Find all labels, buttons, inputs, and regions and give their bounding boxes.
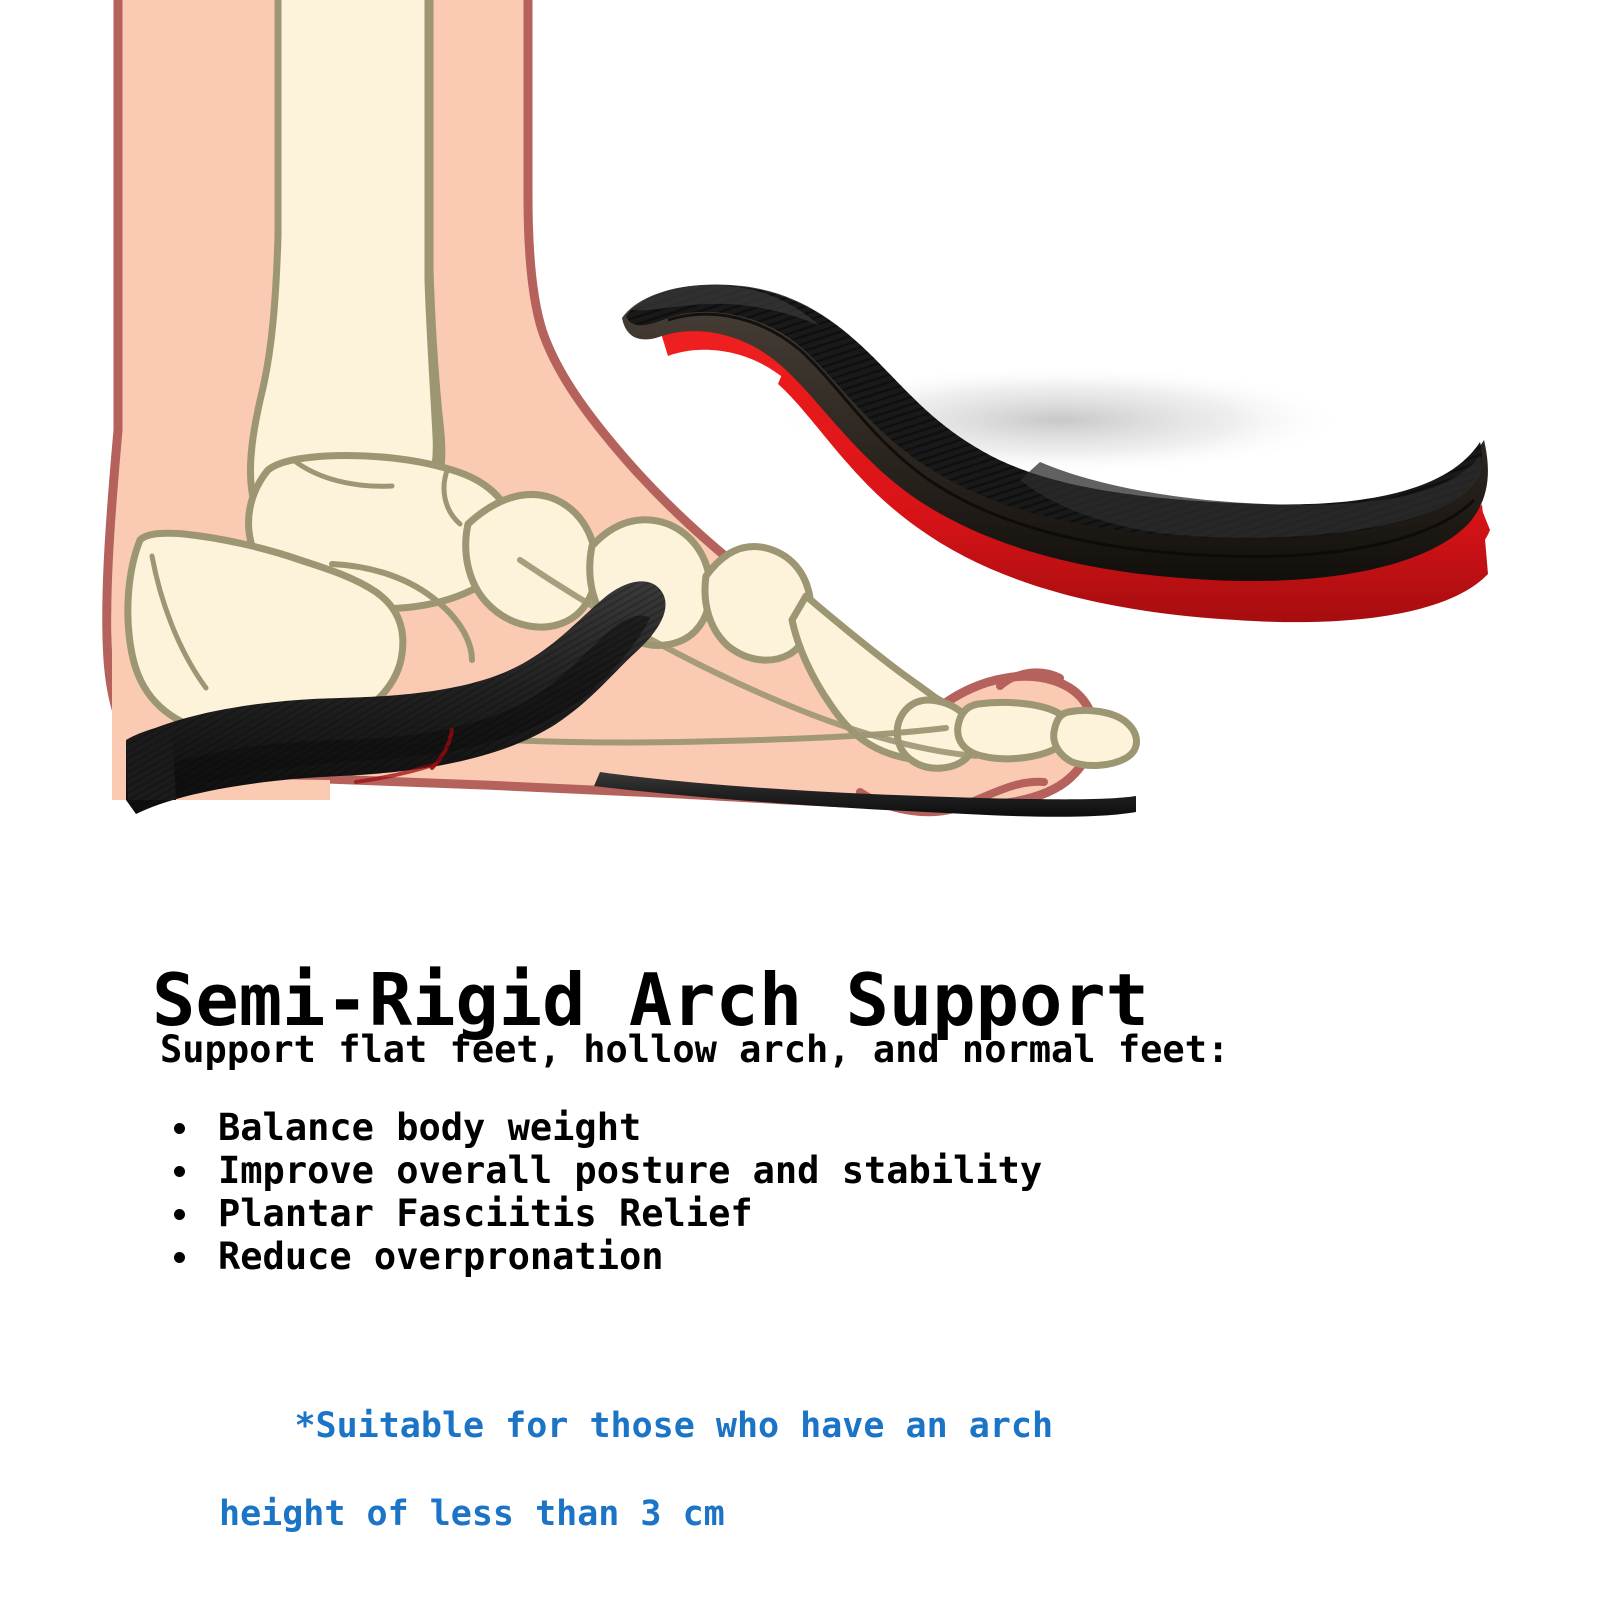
foot-anatomy-illustration xyxy=(0,0,1600,870)
distal-phalanx-bone xyxy=(1054,710,1137,765)
footnote-line-1: *Suitable for those who have an arch xyxy=(294,1406,1053,1446)
subtitle: Support flat feet, hollow arch, and norm… xyxy=(160,1028,1229,1072)
benefits-list: Balance body weight Improve overall post… xyxy=(168,1106,1042,1278)
list-item: Plantar Fasciitis Relief xyxy=(168,1192,1042,1235)
bullet-icon xyxy=(174,1252,185,1263)
list-item-label: Plantar Fasciitis Relief xyxy=(218,1192,753,1235)
product-copy-block: Semi-Rigid Arch Support Support flat fee… xyxy=(0,870,1600,1600)
list-item: Reduce overpronation xyxy=(168,1235,1042,1278)
bullet-icon xyxy=(174,1166,185,1177)
product-infographic: Semi-Rigid Arch Support Support flat fee… xyxy=(0,0,1600,1600)
list-item: Improve overall posture and stability xyxy=(168,1149,1042,1192)
list-item-label: Balance body weight xyxy=(218,1106,641,1149)
list-item-label: Improve overall posture and stability xyxy=(218,1149,1042,1192)
list-item-label: Reduce overpronation xyxy=(218,1235,664,1278)
footnote: *Suitable for those who have an arch hei… xyxy=(168,1360,1053,1624)
bullet-icon xyxy=(174,1209,185,1220)
footnote-line-2: height of less than 3 cm xyxy=(168,1492,1053,1536)
list-item: Balance body weight xyxy=(168,1106,1042,1149)
bullet-icon xyxy=(174,1123,185,1134)
